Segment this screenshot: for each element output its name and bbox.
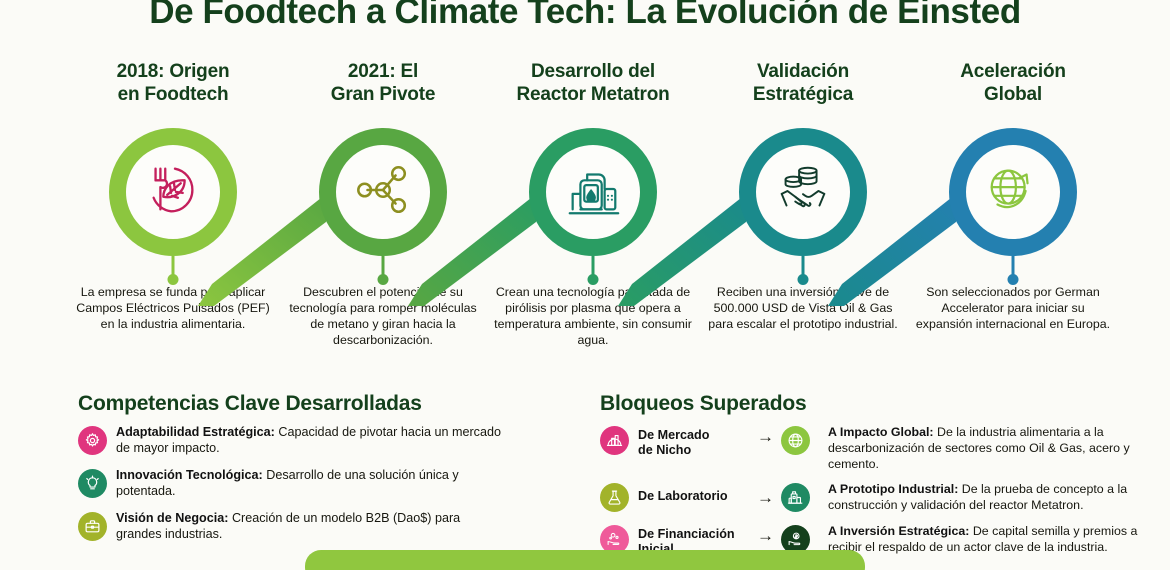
globe-icon: [781, 426, 810, 455]
bloqueo-text: A Impacto Global: De la industria alimen…: [828, 425, 1160, 472]
stage-3-heading: Desarrollo del Reactor Metatron: [488, 60, 698, 114]
competencias-title: Competencias Clave Desarrolladas: [78, 392, 508, 416]
bloqueo-label: A Prototipo Industrial:: [828, 482, 958, 496]
stage-2-heading: 2021: El Gran Pivote: [278, 60, 488, 114]
competencia-label: Adaptabilidad Estratégica:: [116, 425, 275, 439]
stage-3-ring: [529, 128, 657, 256]
stage-2-dot: [378, 274, 389, 285]
bloqueo-item[interactable]: De Mercado de Nicho → A Impacto Global: …: [600, 425, 1160, 472]
bloqueos-title: Bloqueos Superados: [600, 392, 1160, 416]
methane-molecule-icon: [352, 159, 414, 226]
stage-4-ring: [739, 128, 867, 256]
flask-icon: [600, 483, 629, 512]
briefcase-icon: [78, 512, 107, 541]
bloqueo-text: A Inversión Estratégica: De capital semi…: [828, 524, 1160, 556]
market-niche-icon: [600, 426, 629, 455]
bloqueo-text: A Prototipo Industrial: De la prueba de …: [828, 482, 1160, 514]
bloqueos-panel: Bloqueos Superados De Mercado de Nicho →: [600, 392, 1160, 567]
competencia-item[interactable]: Innovación Tecnológica: Desarrollo de un…: [78, 468, 508, 500]
competencia-text: Adaptabilidad Estratégica: Capacidad de …: [116, 425, 508, 457]
globe-growth-arrow-icon: [982, 159, 1044, 226]
lightbulb-icon: [78, 469, 107, 498]
competencia-item[interactable]: Adaptabilidad Estratégica: Capacidad de …: [78, 425, 508, 457]
bloqueo-item[interactable]: De Laboratorio → A Prototipo Industrial:…: [600, 482, 1160, 514]
arrow-icon: →: [757, 488, 774, 508]
bloqueo-label: A Inversión Estratégica:: [828, 524, 969, 538]
stage-3-dot: [588, 274, 599, 285]
stage-5-ring: [949, 128, 1077, 256]
competencia-text: Visión de Negocia: Creación de un modelo…: [116, 511, 508, 543]
competencias-panel: Competencias Clave Desarrolladas Adaptab…: [78, 392, 508, 554]
arrow-icon: →: [757, 427, 774, 447]
stage-2-ring: [319, 128, 447, 256]
fork-leaf-plate-icon: [142, 159, 204, 226]
arrow-icon: →: [757, 526, 774, 546]
stage-1-ring: [109, 128, 237, 256]
bloqueo-label: A Impacto Global:: [828, 425, 934, 439]
stage-1-heading: 2018: Origen en Foodtech: [68, 60, 278, 114]
competencia-label: Innovación Tecnológica:: [116, 468, 263, 482]
reactor-plant-icon: [562, 159, 624, 226]
competencia-text: Innovación Tecnológica: Desarrollo de un…: [116, 468, 508, 500]
competencia-item[interactable]: Visión de Negocia: Creación de un modelo…: [78, 511, 508, 543]
infographic-page: De Foodtech a Climate Tech: La Evolución…: [0, 0, 1170, 570]
factory-icon: [781, 483, 810, 512]
handshake-coins-icon: [772, 159, 834, 226]
bottom-accent-bar: [305, 550, 865, 570]
bloqueo-from-label: De Mercado de Nicho: [638, 428, 746, 459]
timeline: 2018: Origen en Foodtech: [0, 60, 1170, 385]
stage-5-dot: [1008, 274, 1019, 285]
stage-5-heading: Aceleración Global: [908, 60, 1118, 114]
stage-1-dot: [168, 274, 179, 285]
competencia-label: Visión de Negocia:: [116, 511, 228, 525]
bloqueo-from-label: De Laboratorio: [638, 489, 746, 504]
page-title: De Foodtech a Climate Tech: La Evolución…: [0, 0, 1170, 32]
gear-icon: [78, 426, 107, 455]
stage-4-dot: [798, 274, 809, 285]
stage-4-heading: Validación Estratégica: [698, 60, 908, 114]
